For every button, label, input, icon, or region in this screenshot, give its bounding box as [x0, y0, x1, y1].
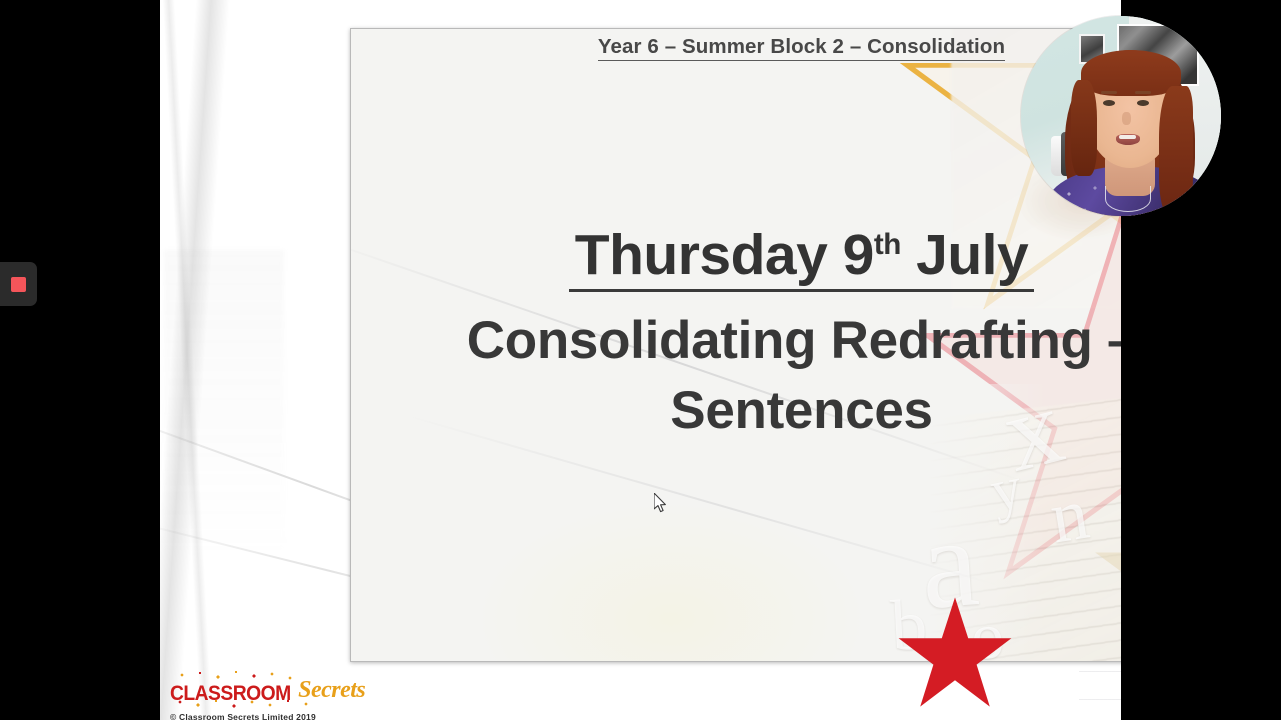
- warm-light-wash: [471, 499, 871, 662]
- ghost-letter-a: a: [917, 497, 983, 629]
- screen-recording-view: x y b n c a b o Year 6 – Summer Block 2 …: [0, 0, 1281, 720]
- slide-page-backdrop: x y b n c a b o Year 6 – Summer Block 2 …: [160, 0, 1121, 720]
- logo-classroom-text: CLASSROOM: [170, 683, 291, 704]
- presenter-eyebrow-right: [1135, 91, 1151, 94]
- ghost-letter-n: n: [1045, 477, 1093, 556]
- presenter-hair-strand-left: [1071, 80, 1097, 176]
- slide-date-ordinal-suffix: th: [874, 228, 901, 261]
- classroom-secrets-logo: CLASSROOM Secrets © Classroom Secrets Li…: [170, 678, 365, 720]
- presenter-webcam-bubble[interactable]: [1021, 16, 1221, 216]
- cream-star-icon: [1091, 479, 1121, 662]
- presenter-eye-left: [1103, 100, 1115, 106]
- presenter-eyebrow-left: [1101, 91, 1117, 94]
- stop-recording-button[interactable]: [0, 262, 37, 306]
- presenter-eye-right: [1137, 100, 1149, 106]
- presenter-nose: [1122, 112, 1131, 125]
- presenter-hair-front: [1081, 50, 1181, 96]
- paper-edge-streak-secondary: [160, 0, 216, 720]
- logo-secrets-text: Secrets: [298, 678, 365, 702]
- slide-panel: x y b n c a b o Year 6 – Summer Block 2 …: [350, 28, 1121, 662]
- slide-date-text: Thursday 9: [575, 223, 874, 287]
- logo-wordmark: CLASSROOM Secrets: [170, 678, 365, 704]
- presenter-teeth: [1119, 135, 1136, 139]
- slide-header: Year 6 – Summer Block 2 – Consolidation: [351, 35, 1121, 61]
- paper-edge-streak: [160, 0, 233, 720]
- ghost-letter-o: o: [969, 603, 1005, 662]
- ghost-letter-y: y: [985, 457, 1027, 522]
- presenter-hair-strand-right: [1159, 86, 1193, 216]
- ghost-letter-b-second: b: [889, 588, 929, 662]
- slide-subtitle-line-1: Consolidating Redrafting –: [351, 306, 1121, 376]
- slide-title-block: Thursday 9th July Consolidating Redrafti…: [351, 224, 1121, 446]
- slide-header-text: Year 6 – Summer Block 2 – Consolidation: [598, 35, 1005, 61]
- slide-date-month: July: [901, 223, 1028, 287]
- paper-shadow-block: [164, 250, 284, 550]
- slide-subtitle-line-2: Sentences: [351, 376, 1121, 446]
- copyright-text: © Classroom Secrets Limited 2019: [170, 713, 365, 720]
- presenter-necklace: [1105, 186, 1151, 212]
- stop-square-icon: [11, 277, 26, 292]
- slide-date-heading: Thursday 9th July: [569, 224, 1034, 292]
- letterbox-left: [0, 0, 160, 720]
